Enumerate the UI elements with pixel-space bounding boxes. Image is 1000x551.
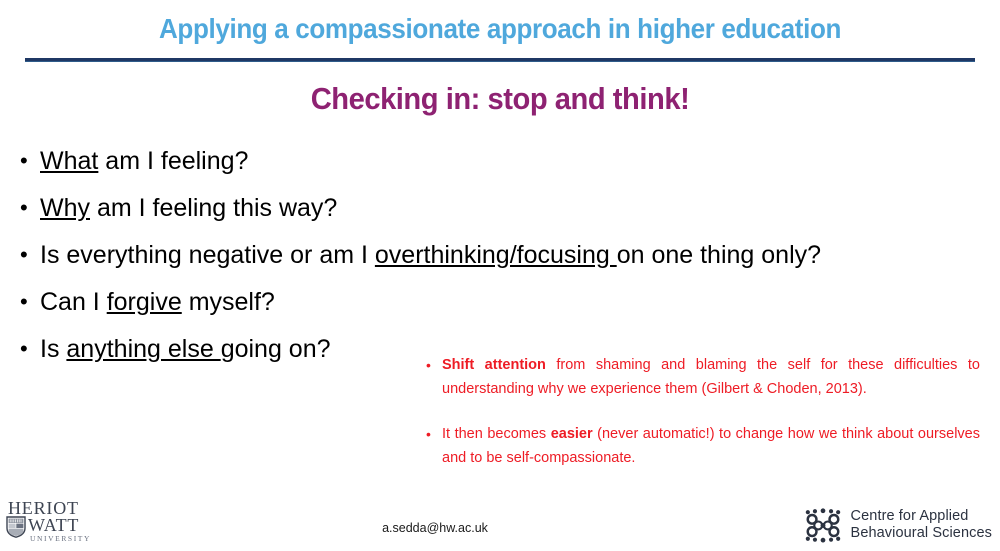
bullet-text-suffix: myself? — [182, 288, 275, 316]
list-item: Shift attention from shaming and blaming… — [418, 354, 980, 401]
list-item: Can I forgive myself? — [14, 286, 894, 319]
slide-title: Applying a compassionate approach in hig… — [35, 12, 965, 46]
centre-logo-text: Centre for Applied Behavioural Sciences — [851, 508, 992, 542]
list-item: Why am I feeling this way? — [14, 192, 894, 225]
bullet-text-prefix: Is everything negative or am I — [40, 241, 375, 269]
bullet-text-suffix: going on? — [221, 335, 331, 363]
bullet-text-underlined: What — [40, 147, 98, 175]
red-bullet-list: Shift attention from shaming and blaming… — [418, 354, 980, 470]
centre-for-applied-behavioural-sciences-logo: Centre for Applied Behavioural Sciences — [804, 507, 992, 543]
centre-logo-line2: Behavioural Sciences — [851, 525, 992, 542]
slide-heading: Checking in: stop and think! — [30, 79, 970, 119]
bullet-text-prefix: Can I — [40, 288, 107, 316]
bullet-text-underlined: Why — [40, 194, 90, 222]
list-item: It then becomes easier (never automatic!… — [418, 423, 980, 470]
centre-logo-line1: Centre for Applied — [851, 508, 992, 525]
list-item: Is everything negative or am I overthink… — [14, 239, 900, 272]
bullet-text-underlined: anything else — [66, 335, 220, 363]
heriot-watt-logo-line3: UNIVERSITY — [30, 535, 91, 543]
red-bold-word: easier — [551, 426, 593, 442]
bullet-text-prefix: Is — [40, 335, 66, 363]
bullet-text-suffix: am I feeling this way? — [90, 194, 337, 222]
red-lead-text: It then becomes — [442, 426, 551, 442]
bullet-text-underlined: overthinking/focusing — [375, 241, 617, 269]
bullet-text-suffix: am I feeling? — [98, 147, 248, 175]
list-item: What am I feeling? — [14, 145, 894, 178]
title-divider — [25, 58, 975, 62]
molecular-network-icon — [804, 507, 842, 543]
red-callout-block: Shift attention from shaming and blaming… — [418, 354, 980, 470]
bullet-text-suffix: on one thing only? — [617, 241, 821, 269]
bullet-text-underlined: forgive — [107, 288, 182, 316]
red-bold-lead: Shift attention — [442, 357, 546, 373]
checking-in-question-list: What am I feeling? Why am I feeling this… — [14, 145, 894, 380]
